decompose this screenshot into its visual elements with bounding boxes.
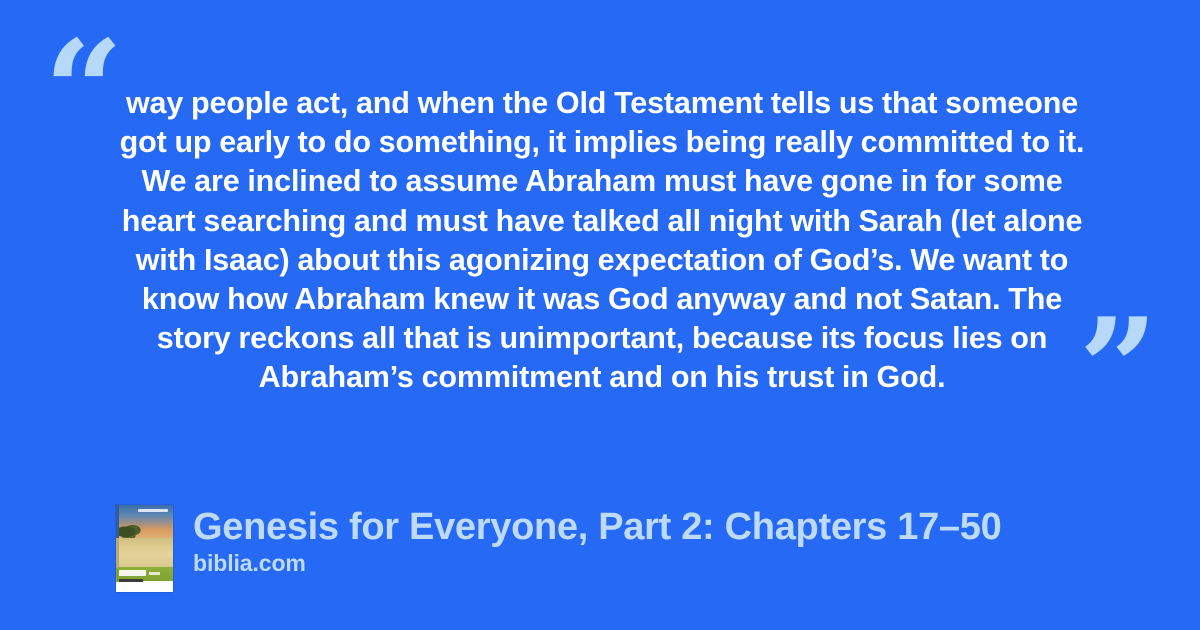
book-title: Genesis for Everyone, Part 2: Chapters 1… (193, 505, 1001, 549)
attribution-text-group: Genesis for Everyone, Part 2: Chapters 1… (193, 505, 1001, 576)
cover-spine-edge (116, 505, 119, 592)
quote-card: “ way people act, and when the Old Testa… (0, 0, 1200, 630)
book-cover-thumbnail (116, 505, 173, 592)
cover-series-title-glyph (119, 570, 146, 576)
cover-author-text-glyph (138, 509, 168, 512)
cover-part-label-glyph (149, 572, 160, 575)
quote-text: way people act, and when the Old Testame… (110, 84, 1094, 398)
site-name: biblia.com (193, 550, 1001, 576)
quote-block: way people act, and when the Old Testame… (110, 84, 1094, 398)
cover-wheat-field-region (116, 538, 173, 568)
cover-bottom-band (116, 582, 173, 592)
attribution-footer: Genesis for Everyone, Part 2: Chapters 1… (116, 505, 1001, 592)
cover-tree-icon (119, 523, 141, 539)
close-quote-icon: ” (1079, 300, 1158, 438)
